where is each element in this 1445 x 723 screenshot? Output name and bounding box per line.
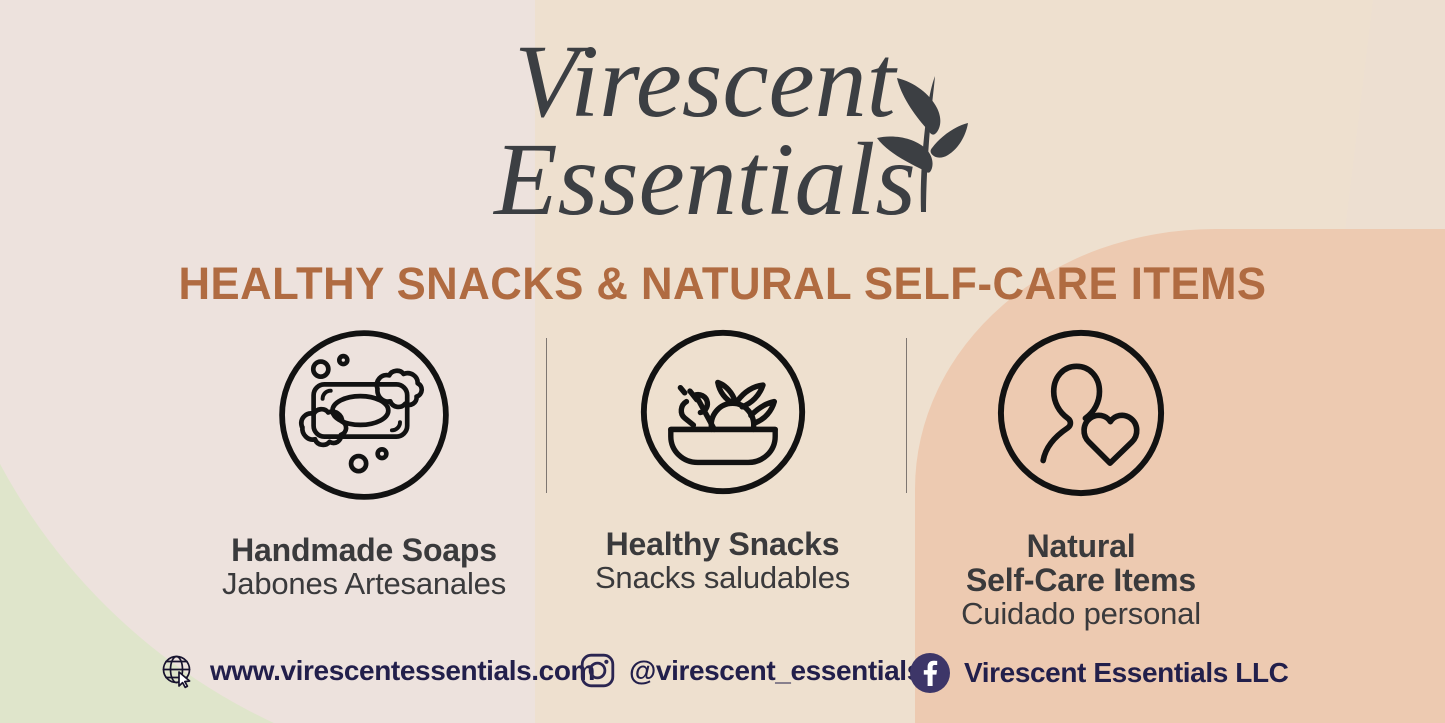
feature-title: Handmade Soaps bbox=[222, 533, 506, 567]
feature-subtitle: Jabones Artesanales bbox=[222, 567, 506, 600]
contact-instagram[interactable]: @virescent_essentials bbox=[580, 653, 922, 688]
contact-bar: www.virescentessentials.com @virescent_e… bbox=[0, 653, 1445, 697]
facebook-icon bbox=[910, 653, 950, 693]
globe-cursor-icon bbox=[160, 653, 196, 689]
feature-item-natural-self-care: Natural Self-Care Items Cuidado personal bbox=[902, 325, 1260, 631]
salad-bowl-icon bbox=[636, 325, 810, 499]
feature-label-healthy-snacks: Healthy Snacks Snacks saludables bbox=[595, 527, 850, 594]
feature-list: Handmade Soaps Jabones Artesanales bbox=[185, 325, 1260, 631]
feature-label-natural-self-care: Natural Self-Care Items Cuidado personal bbox=[961, 529, 1201, 631]
contact-facebook[interactable]: Virescent Essentials LLC bbox=[910, 653, 1288, 693]
feature-title: Natural bbox=[961, 529, 1201, 563]
contact-website[interactable]: www.virescentessentials.com bbox=[160, 653, 595, 689]
tagline: HEALTHY SNACKS & NATURAL SELF-CARE ITEMS bbox=[22, 258, 1424, 310]
banner-canvas: Virescent Essentials HEALTHY SNACKS & NA… bbox=[0, 0, 1445, 723]
soap-bar-bubbles-icon bbox=[274, 325, 454, 505]
feature-title: Healthy Snacks bbox=[595, 527, 850, 561]
instagram-icon bbox=[580, 653, 615, 688]
contact-website-label: www.virescentessentials.com bbox=[210, 655, 595, 687]
feature-label-handmade-soaps: Handmade Soaps Jabones Artesanales bbox=[222, 533, 506, 600]
brand-logo: Virescent Essentials bbox=[0, 34, 1445, 239]
feature-subtitle: Snacks saludables bbox=[595, 561, 850, 594]
contact-facebook-label: Virescent Essentials LLC bbox=[964, 657, 1288, 689]
feature-item-handmade-soaps: Handmade Soaps Jabones Artesanales bbox=[185, 325, 543, 600]
feature-subtitle: Cuidado personal bbox=[961, 597, 1201, 630]
person-heart-icon bbox=[993, 325, 1169, 501]
contact-instagram-label: @virescent_essentials bbox=[629, 655, 922, 687]
brand-logo-svg: Virescent Essentials bbox=[473, 34, 973, 234]
brand-logo-line2: Essentials bbox=[492, 122, 916, 234]
content-layer: Virescent Essentials HEALTHY SNACKS & NA… bbox=[0, 0, 1445, 723]
feature-item-healthy-snacks: Healthy Snacks Snacks saludables bbox=[544, 325, 902, 594]
feature-title-2: Self-Care Items bbox=[961, 563, 1201, 597]
